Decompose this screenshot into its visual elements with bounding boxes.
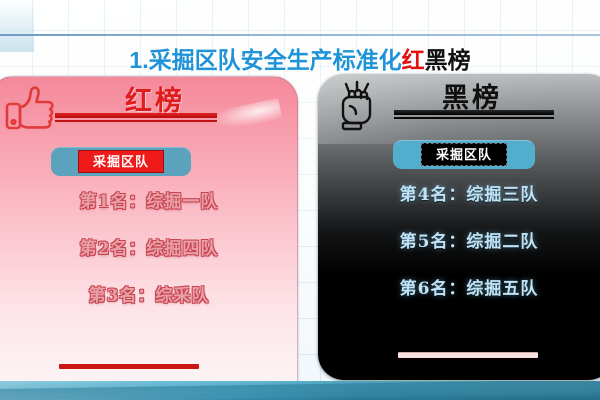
black-shame-board: 黑榜 采掘区队 第4名：综掘三队 第5名：综掘二队 第6名：综掘五队 xyxy=(318,74,600,380)
list-item: 第5名：综掘二队 xyxy=(318,227,600,274)
list-item: 第4名：综掘三队 xyxy=(318,180,600,227)
red-board-divider xyxy=(55,113,217,122)
red-board-header: 红榜 xyxy=(0,77,297,139)
red-rule-thin xyxy=(55,120,217,122)
black-category-pill[interactable]: 采掘区队 xyxy=(393,140,535,169)
header-divider xyxy=(0,34,600,36)
list-item: 第3名：综采队 xyxy=(0,281,297,328)
list-item: 第2名：综掘四队 xyxy=(0,234,297,281)
black-rank-list: 第4名：综掘三队 第5名：综掘二队 第6名：综掘五队 xyxy=(318,180,600,321)
list-item: 第6名：综掘五队 xyxy=(318,274,600,321)
red-board-footer-bar xyxy=(59,364,199,369)
page-title: 1.采掘区队安全生产标准化红黑榜 xyxy=(0,41,600,75)
red-rank-list: 第1名：综掘一队 第2名：综掘四队 第3名：综采队 xyxy=(0,187,297,328)
page-title-prefix: 1.采掘区队安全生产标准化 xyxy=(129,47,401,73)
red-category-pill[interactable]: 采掘区队 xyxy=(51,147,191,176)
black-board-header: 黑榜 xyxy=(318,74,600,136)
page-title-red-word: 红 xyxy=(402,47,425,73)
footer-band xyxy=(0,381,600,400)
black-board-footer-bar xyxy=(398,352,538,358)
black-rule-thin xyxy=(394,117,554,119)
red-category-chip[interactable]: 采掘区队 xyxy=(78,150,164,173)
red-honor-board: 红榜 采掘区队 第1名：综掘一队 第2名：综掘四队 第3名：综采队 xyxy=(0,76,298,400)
black-board-divider xyxy=(394,110,554,119)
list-item: 第1名：综掘一队 xyxy=(0,187,297,234)
page-title-black-word: 黑榜 xyxy=(425,47,471,73)
slide-canvas: 1.采掘区队安全生产标准化红黑榜 红榜 xyxy=(0,0,600,400)
black-category-chip[interactable]: 采掘区队 xyxy=(421,143,507,166)
